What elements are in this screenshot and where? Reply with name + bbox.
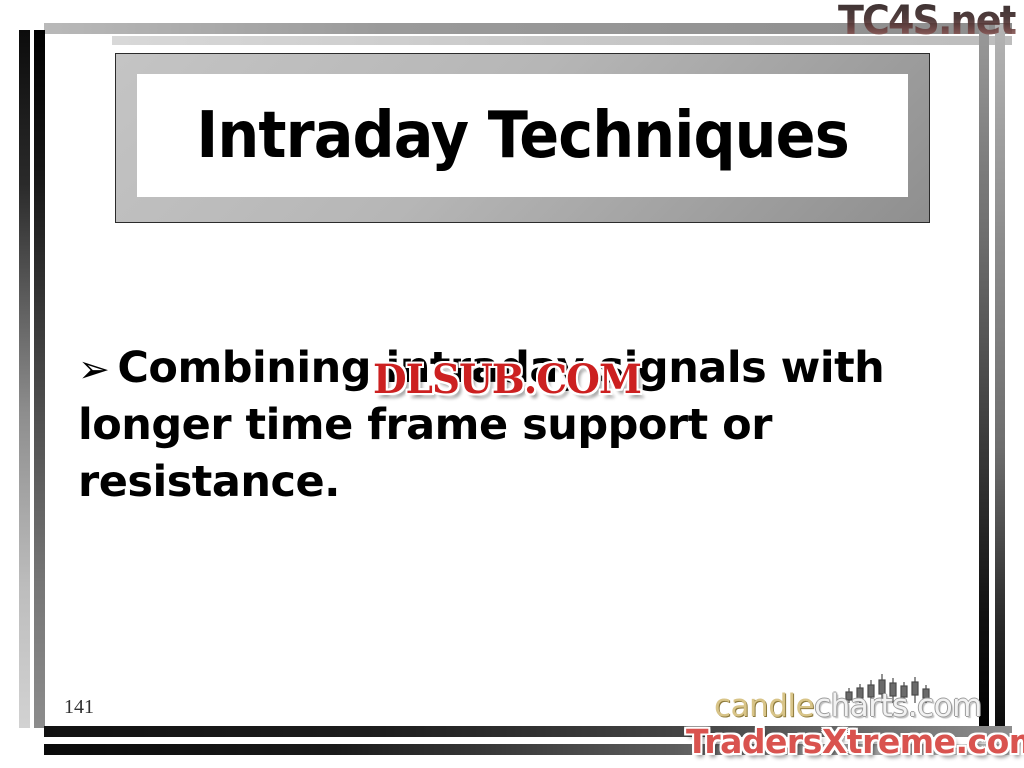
candlecharts-logo: candlecharts.com: [714, 676, 984, 722]
page-title: Intraday Techniques: [196, 104, 848, 168]
slide-canvas: Intraday Techniques ➢Combining intraday …: [0, 0, 1024, 768]
watermark-tc4s: TC4S.net: [838, 0, 1016, 44]
arrow-bullet-icon: ➢: [78, 347, 117, 391]
candlecharts-logo-text: candlecharts.com: [714, 688, 982, 724]
watermark-tradersxtreme: TradersXtreme.com: [686, 722, 1024, 761]
frame-bar-left-inner: [34, 30, 45, 728]
frame-bar-left-outer: [19, 30, 30, 728]
logo-word-candle: candle: [714, 688, 814, 724]
watermark-dlsub: DLSUB.COM: [373, 356, 641, 403]
title-frame-inner: Intraday Techniques: [137, 74, 908, 197]
title-frame: Intraday Techniques: [115, 53, 930, 223]
frame-bar-right-inner: [979, 24, 989, 728]
logo-word-charts: charts.com: [814, 688, 982, 724]
frame-bar-right-outer: [995, 24, 1005, 728]
page-number: 141: [64, 696, 94, 719]
